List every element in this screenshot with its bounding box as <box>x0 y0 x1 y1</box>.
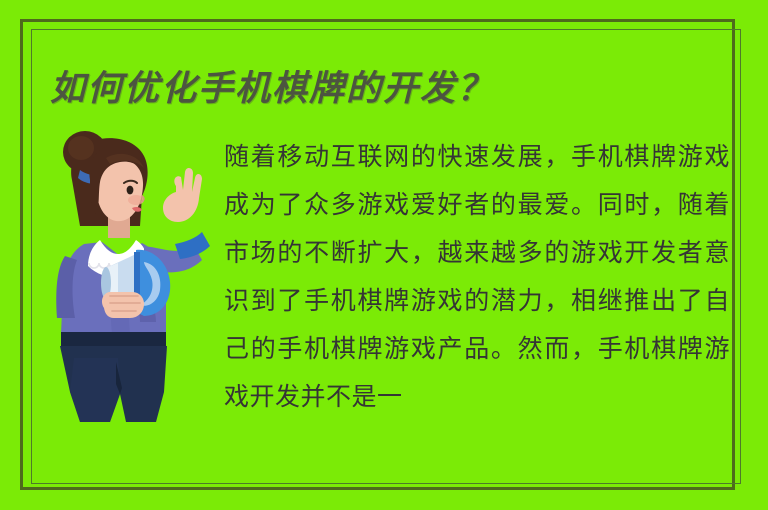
pants-left-leg-shading <box>70 358 120 422</box>
raised-hand-icon <box>163 168 202 222</box>
hair-bun-highlight-icon <box>68 136 94 160</box>
poster-canvas: 如何优化手机棋牌的开发？ 随着移动互联网的快速发展，手机棋牌游戏成为了众多游戏爱… <box>0 0 768 510</box>
page-title: 如何优化手机棋牌的开发？ <box>50 60 690 111</box>
woman-with-megaphone-illustration <box>44 122 216 422</box>
waistband-shape <box>61 332 166 348</box>
article-body-paragraph: 随着移动互联网的快速发展，手机棋牌游戏成为了众多游戏爱好者的最爱。同时，随着市场… <box>224 133 730 421</box>
eye-icon <box>127 186 134 195</box>
raised-arm-cuff <box>175 232 210 259</box>
